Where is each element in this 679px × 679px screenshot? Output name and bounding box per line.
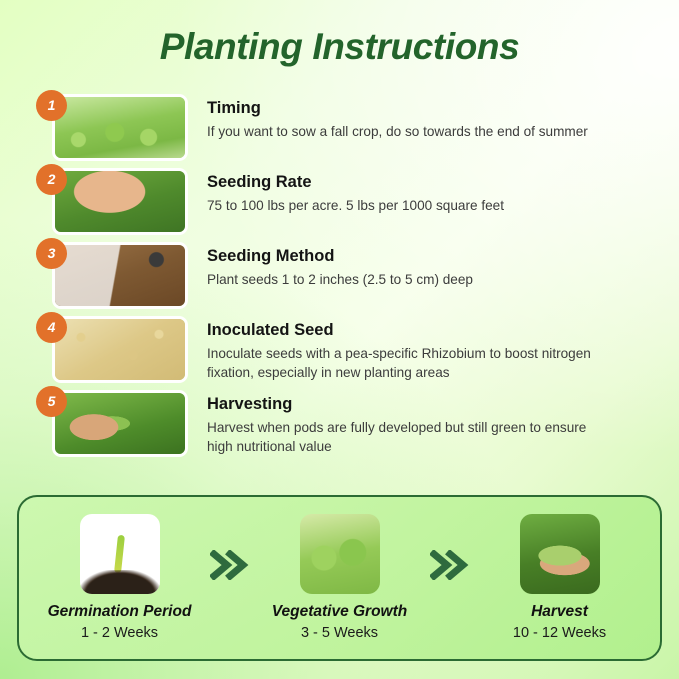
step-item: 2 Seeding Rate 75 to 100 lbs per acre. 5… [36,168,646,235]
step-thumbnail-wrap: 3 [36,242,188,309]
step-number-badge: 4 [36,312,67,343]
step-text: Seeding Rate 75 to 100 lbs per acre. 5 l… [188,168,646,215]
double-chevron-right-icon [428,550,472,580]
pea-sprouts-photo [52,94,188,161]
phase-duration: 10 - 12 Weeks [477,625,642,642]
page-title: Planting Instructions [0,26,679,68]
step-text: Seeding Method Plant seeds 1 to 2 inches… [188,242,646,289]
growth-timeline-panel: Germination Period 1 - 2 Weeks Vegetativ… [17,495,662,661]
step-number-badge: 2 [36,164,67,195]
double-chevron-right-icon [208,550,252,580]
step-description: If you want to sow a fall crop, do so to… [207,122,607,141]
harvesting-pods-photo [52,390,188,457]
growing-pea-plants-photo [300,514,380,594]
phase-duration: 1 - 2 Weeks [37,625,202,642]
step-item: 1 Timing If you want to sow a fall crop,… [36,94,646,161]
step-title: Seeding Method [207,246,646,267]
step-thumbnail-wrap: 2 [36,168,188,235]
hand-seed-illustration [55,171,185,232]
step-thumbnail-wrap: 5 [36,390,188,457]
step-item: 5 Harvesting Harvest when pods are fully… [36,390,646,457]
phase-label: Vegetative Growth [257,603,422,622]
step-text: Inoculated Seed Inoculate seeds with a p… [188,316,646,382]
step-description: Inoculate seeds with a pea-specific Rhiz… [207,344,607,383]
step-title: Inoculated Seed [207,320,646,341]
phase-label: Harvest [477,603,642,622]
steps-list: 1 Timing If you want to sow a fall crop,… [36,94,646,464]
step-title: Timing [207,98,646,119]
step-description: 75 to 100 lbs per acre. 5 lbs per 1000 s… [207,196,607,215]
step-item: 3 Seeding Method Plant seeds 1 to 2 inch… [36,242,646,309]
timeline-phase: Germination Period 1 - 2 Weeks [37,514,202,642]
timeline-phase: Harvest 10 - 12 Weeks [477,514,642,642]
pea-seeds-photo [52,316,188,383]
step-number-badge: 1 [36,90,67,121]
step-description: Plant seeds 1 to 2 inches (2.5 to 5 cm) … [207,270,607,289]
step-item: 4 Inoculated Seed Inoculate seeds with a… [36,316,646,383]
rake-soil-illustration [55,245,185,306]
step-thumbnail-wrap: 4 [36,316,188,383]
step-description: Harvest when pods are fully developed bu… [207,418,607,457]
harvested-pea-pods-photo [520,514,600,594]
step-thumbnail-wrap: 1 [36,94,188,161]
harvest-illustration [55,393,185,454]
step-title: Harvesting [207,394,646,415]
phase-duration: 3 - 5 Weeks [257,625,422,642]
step-text: Timing If you want to sow a fall crop, d… [188,94,646,141]
phase-label: Germination Period [37,603,202,622]
step-text: Harvesting Harvest when pods are fully d… [188,390,646,456]
planting-instructions-infographic: Planting Instructions 1 Timing If you wa… [0,0,679,679]
timeline-phase: Vegetative Growth 3 - 5 Weeks [257,514,422,642]
sprouting-seed-photo [80,514,160,594]
step-number-badge: 5 [36,386,67,417]
step-title: Seeding Rate [207,172,646,193]
sprouts-illustration [55,97,185,158]
hand-sowing-seeds-photo [52,168,188,235]
seeds-illustration [55,319,185,380]
rake-on-soil-photo [52,242,188,309]
step-number-badge: 3 [36,238,67,269]
